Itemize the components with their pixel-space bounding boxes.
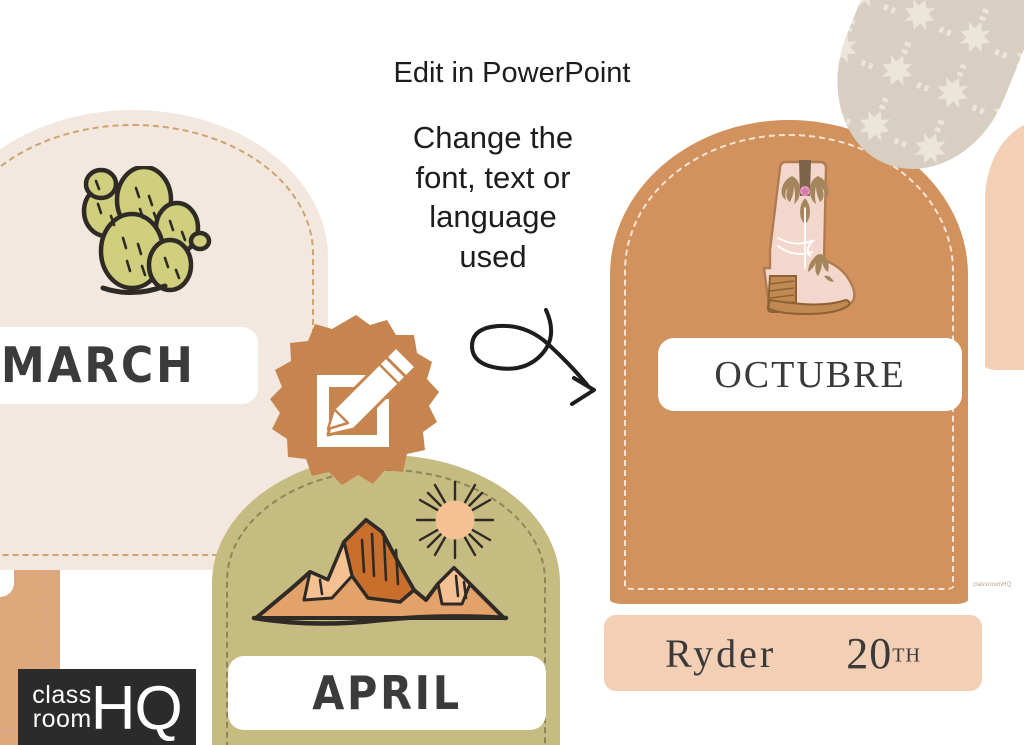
edit-badge[interactable] xyxy=(268,313,444,489)
mountains-sun-icon xyxy=(248,480,513,640)
month-label-text: APRIL xyxy=(312,666,462,720)
logo-hq-mark: HQ xyxy=(91,684,182,734)
logo-line-2: room xyxy=(32,707,91,731)
slide-canvas: MARCH APRIL xyxy=(0,0,1024,745)
banner-date: 20TH xyxy=(846,628,921,679)
name-date-banner[interactable]: Ryder 20TH xyxy=(604,615,982,691)
curly-loop-arrow-icon xyxy=(442,308,622,418)
watermark: classroomHQ xyxy=(973,582,1012,588)
banner-name-text: Ryder xyxy=(665,630,776,677)
month-label-text: MARCH xyxy=(1,337,196,394)
classroomhq-logo: class room HQ xyxy=(18,669,196,745)
month-label-text: OCTUBRE xyxy=(714,353,905,397)
banner-date-number: 20 xyxy=(846,629,892,678)
decorative-patterned-arch xyxy=(818,0,1024,188)
annotation-body: Change the font, text or language used xyxy=(338,118,648,277)
month-label-march[interactable]: MARCH xyxy=(0,327,258,404)
logo-wordmark: class room xyxy=(32,683,91,731)
annotation-title: Edit in PowerPoint xyxy=(0,55,1024,92)
month-label-april[interactable]: APRIL xyxy=(228,656,546,730)
month-label-octubre[interactable]: OCTUBRE xyxy=(658,338,962,411)
banner-date-suffix: TH xyxy=(892,644,921,666)
logo-line-1: class xyxy=(32,683,91,707)
cactus-icon xyxy=(70,166,220,311)
